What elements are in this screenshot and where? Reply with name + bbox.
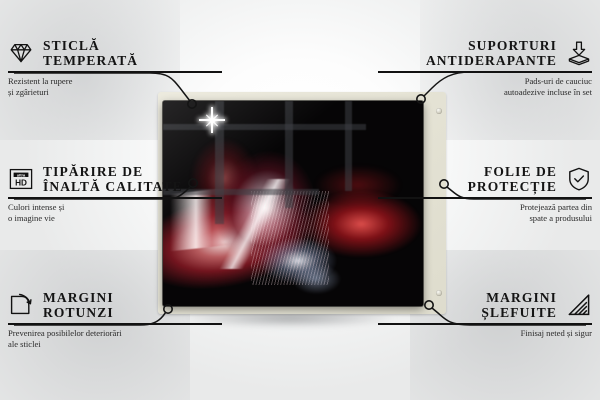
feature-title: TIPĂRIRE DE ÎNALTĂ CALITATE	[43, 164, 183, 194]
svg-text:ultra: ultra	[17, 172, 26, 177]
feature-description: Protejează partea din spate a produsului	[378, 202, 592, 224]
feature-rule	[378, 323, 592, 325]
feature-polished-edges[interactable]: MARGINI ȘLEFUITE Finisaj neted și sigur	[378, 290, 592, 339]
feature-title: STICLĂ TEMPERATĂ	[43, 38, 138, 68]
feature-protective-film[interactable]: FOLIE DE PROTECȚIE Protejează partea din…	[378, 164, 592, 224]
feature-title: SUPORTURI ANTIDERAPANTE	[426, 38, 557, 68]
feature-description: Finisaj neted și sigur	[378, 328, 592, 339]
shield-check-icon	[566, 166, 592, 192]
feature-description: Rezistent la rupere și zgârieturi	[8, 76, 222, 98]
feature-rule	[8, 71, 222, 73]
press-pad-icon	[566, 40, 592, 66]
feature-description: Prevenirea posibilelor deteriorări ale s…	[8, 328, 222, 350]
hatched-triangle-icon	[566, 292, 592, 318]
feature-rule	[378, 71, 592, 73]
infographic-canvas: STICLĂ TEMPERATĂ Rezistent la rupere și …	[0, 0, 600, 400]
feature-anti-slip-supports[interactable]: SUPORTURI ANTIDERAPANTE Pads-uri de cauc…	[378, 38, 592, 98]
mounting-hole	[436, 108, 442, 114]
rounded-corner-icon	[8, 292, 34, 318]
diamond-icon	[8, 40, 34, 66]
feature-rounded-edges[interactable]: MARGINI ROTUNZI Prevenirea posibilelor d…	[8, 290, 222, 350]
feature-rule	[8, 197, 222, 199]
feature-high-quality-print[interactable]: ultra HD TIPĂRIRE DE ÎNALTĂ CALITATE Cul…	[8, 164, 222, 224]
feature-rule	[8, 323, 222, 325]
feature-title: MARGINI ROTUNZI	[43, 290, 114, 320]
feature-description: Pads-uri de cauciuc autoadezive incluse …	[378, 76, 592, 98]
feature-title: FOLIE DE PROTECȚIE	[468, 164, 557, 194]
feature-tempered-glass[interactable]: STICLĂ TEMPERATĂ Rezistent la rupere și …	[8, 38, 222, 98]
feature-title: MARGINI ȘLEFUITE	[481, 290, 557, 320]
ultra-hd-icon: ultra HD	[8, 166, 34, 192]
svg-text:HD: HD	[15, 179, 27, 188]
feature-description: Culori intense și o imagine vie	[8, 202, 222, 224]
feature-rule	[378, 197, 592, 199]
